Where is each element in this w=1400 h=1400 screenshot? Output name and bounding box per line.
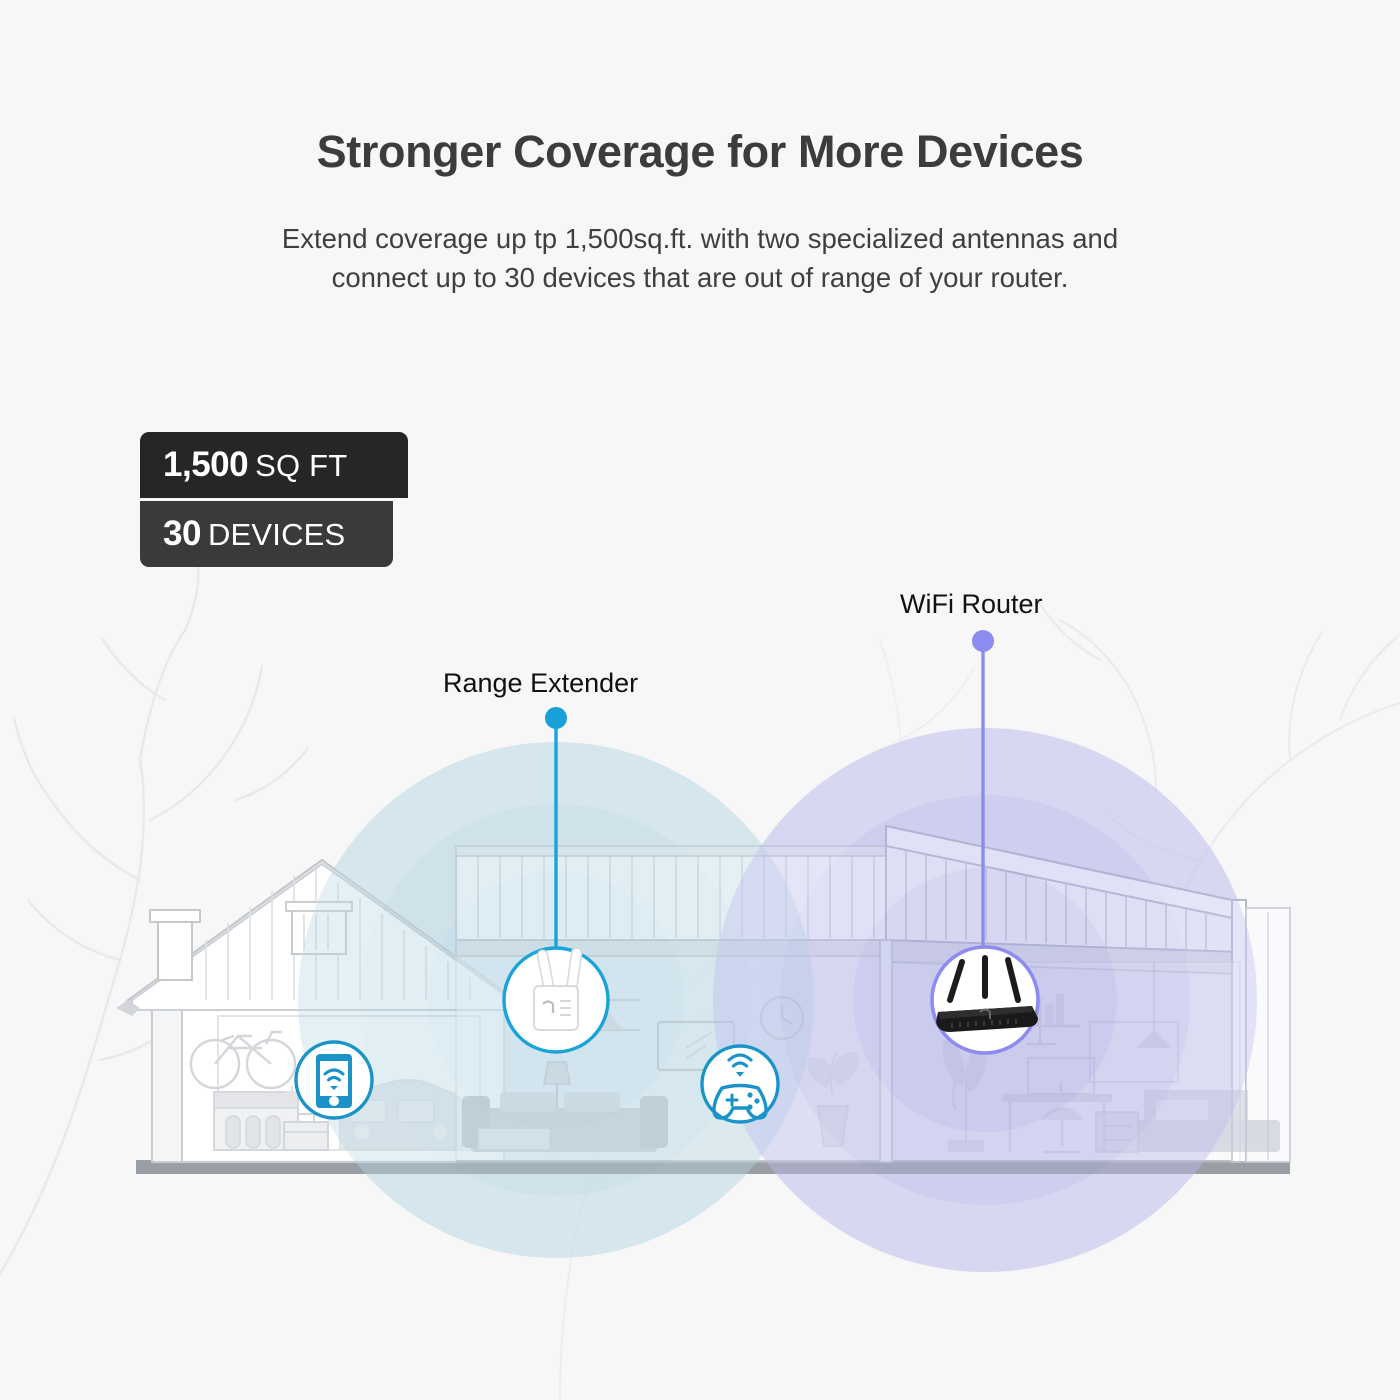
house-coverage-diagram bbox=[0, 0, 1400, 1400]
client-icon-smartphone bbox=[296, 1042, 372, 1118]
device-range-extender bbox=[504, 948, 608, 1052]
smartphone-wifi-icon bbox=[316, 1054, 352, 1108]
client-icon-gamepad bbox=[702, 1046, 778, 1122]
device-wifi-router bbox=[932, 947, 1038, 1053]
infographic-canvas: Stronger Coverage for More Devices Exten… bbox=[0, 0, 1400, 1400]
chimney bbox=[150, 910, 200, 980]
